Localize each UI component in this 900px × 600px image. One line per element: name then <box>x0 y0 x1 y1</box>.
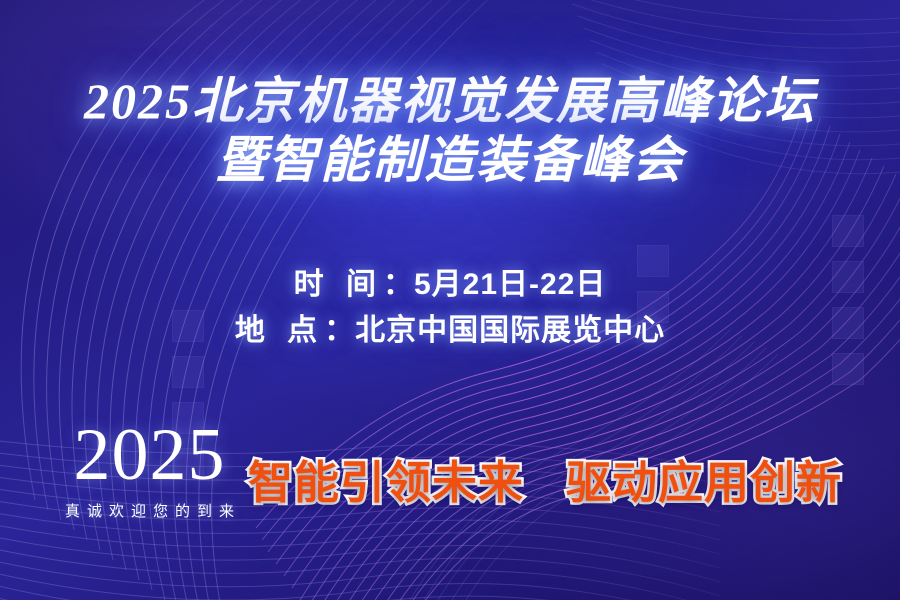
event-date-value: 5月21日-22日 <box>414 268 606 301</box>
decor-square <box>172 356 204 388</box>
event-date-separator: ： <box>383 268 414 301</box>
welcome-text: 真诚欢迎您的到来 <box>42 500 257 521</box>
event-info: 时 间：5月21日-22日 地 点：北京中国国际展览中心 <box>0 262 900 353</box>
event-slogan: 智能引领未来 驱动应用创新 <box>248 446 842 511</box>
event-location-row: 地 点：北京中国国际展览中心 <box>0 308 900 354</box>
slogan-part-1: 智能引领未来 <box>248 446 524 511</box>
decor-square <box>832 215 864 247</box>
event-date-label: 时 间 <box>294 268 383 301</box>
event-promo-banner: 2025北京机器视觉发展高峰论坛 暨智能制造装备峰会 时 间：5月21日-22日… <box>0 0 900 600</box>
year-number: 2025 <box>42 420 257 491</box>
event-title: 2025北京机器视觉发展高峰论坛 暨智能制造装备峰会 <box>0 76 900 186</box>
event-title-line-1: 2025北京机器视觉发展高峰论坛 <box>0 76 900 127</box>
year-badge: 2025 真诚欢迎您的到来 <box>42 420 257 521</box>
event-location-value: 北京中国国际展览中心 <box>355 314 665 347</box>
event-location-label: 地 点 <box>235 314 324 347</box>
event-location-separator: ： <box>324 314 355 347</box>
event-date-row: 时 间：5月21日-22日 <box>0 262 900 308</box>
slogan-part-2: 驱动应用创新 <box>566 446 842 511</box>
event-title-line-2: 暨智能制造装备峰会 <box>0 135 900 186</box>
decor-square <box>832 353 864 385</box>
